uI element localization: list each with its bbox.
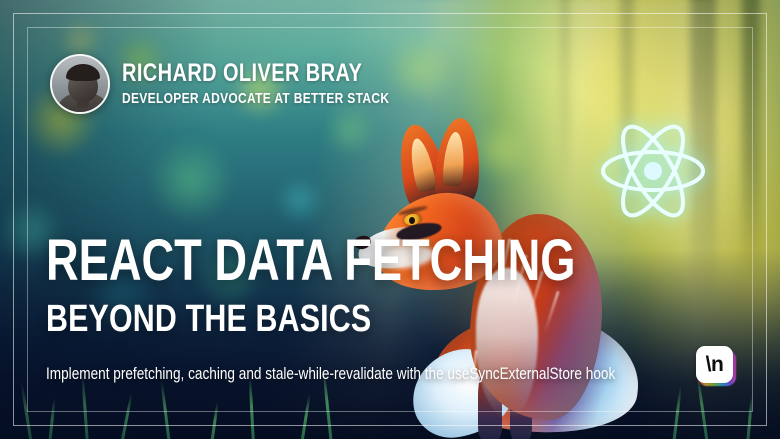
page-title: REACT DATA FETCHING: [46, 232, 575, 290]
headline-block: REACT DATA FETCHING BEYOND THE BASICS: [46, 232, 725, 338]
author-block: RICHARD OLIVER BRAY DEVELOPER ADVOCATE A…: [50, 54, 456, 114]
badge-card: \n: [696, 346, 733, 383]
react-atom-icon: [597, 115, 709, 227]
page-deck: Implement prefetching, caching and stale…: [46, 365, 615, 383]
author-name: RICHARD OLIVER BRAY: [122, 61, 389, 86]
avatar: [50, 54, 110, 114]
page-subtitle: BEYOND THE BASICS: [46, 300, 589, 338]
badge-mark: \n: [706, 354, 724, 375]
better-stack-logo: \n: [696, 346, 736, 386]
cover-image: RICHARD OLIVER BRAY DEVELOPER ADVOCATE A…: [0, 0, 780, 439]
author-role: DEVELOPER ADVOCATE AT BETTER STACK: [122, 91, 389, 107]
